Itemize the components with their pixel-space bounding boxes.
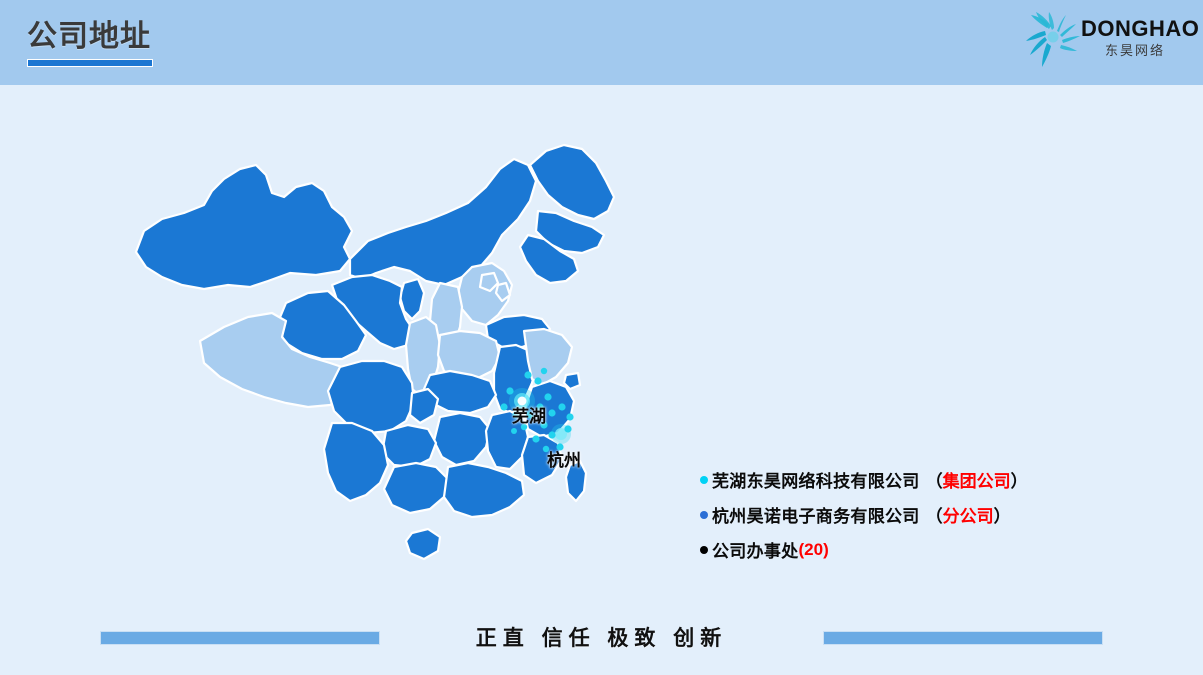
province-inner-mongolia [350, 159, 536, 285]
province-heilongjiang [530, 145, 614, 219]
legend-tag-close-1: ） [994, 507, 1011, 526]
legend-tag-open-0: （ [926, 472, 943, 491]
brand-name-en: DONGHAO [1081, 16, 1189, 41]
province-hainan [406, 529, 440, 559]
title-underline [27, 59, 153, 67]
brand-name-cn: 东昊网络 [1081, 42, 1189, 60]
legend-item-group-company[interactable]: 芜湖东昊网络科技有限公司 （集团公司） [700, 462, 1130, 497]
legend-tag-value-1: 分公司 [943, 507, 994, 526]
donghao-fan-logo-icon [1019, 12, 1081, 72]
brand-logo-text: DONGHAO 东昊网络 [1081, 16, 1189, 60]
footer-slogan: 正直 信任 极致 创新 [0, 622, 1203, 652]
map-label-wuhu: 芜湖 [512, 402, 546, 427]
legend-item-offices[interactable]: 公司办事处 (20) [700, 532, 1130, 567]
legend-bullet-blue-icon [700, 511, 708, 519]
slide-header: 公司地址 [0, 0, 1203, 85]
legend-tag-branch-company: （分公司） [926, 502, 1011, 527]
legend-label-group-company: 芜湖东昊网络科技有限公司 [712, 467, 920, 492]
legend-tag-group-company: （集团公司） [926, 467, 1028, 492]
province-guangxi [384, 463, 448, 513]
province-chongqing [410, 389, 438, 423]
province-hunan [434, 413, 490, 465]
page-title-group: 公司地址 [27, 18, 153, 67]
province-xinjiang [136, 165, 352, 289]
legend-tag-open-1: （ [926, 507, 943, 526]
map-label-hangzhou: 杭州 [547, 446, 581, 471]
province-guizhou [382, 425, 436, 467]
province-guangdong [444, 463, 524, 517]
legend-tag-close-0: ） [1011, 472, 1028, 491]
legend-tag-value-0: 集团公司 [943, 472, 1011, 491]
legend-label-branch-company: 杭州昊诺电子商务有限公司 [712, 502, 920, 527]
province-yunnan [324, 423, 388, 501]
china-map[interactable]: 芜湖 杭州 [100, 135, 680, 605]
page-title: 公司地址 [27, 18, 153, 56]
slide-company-address: 公司地址 [0, 0, 1203, 675]
legend-bullet-cyan-icon [700, 476, 708, 484]
company-legend: 芜湖东昊网络科技有限公司 （集团公司） 杭州昊诺电子商务有限公司 （分公司） 公… [700, 462, 1130, 567]
legend-offices-count: (20) [799, 540, 829, 560]
legend-bullet-black-icon [700, 546, 708, 554]
legend-label-offices: 公司办事处 [712, 537, 799, 562]
legend-item-branch-company[interactable]: 杭州昊诺电子商务有限公司 （分公司） [700, 497, 1130, 532]
brand-logo[interactable]: DONGHAO 东昊网络 [1019, 10, 1189, 74]
